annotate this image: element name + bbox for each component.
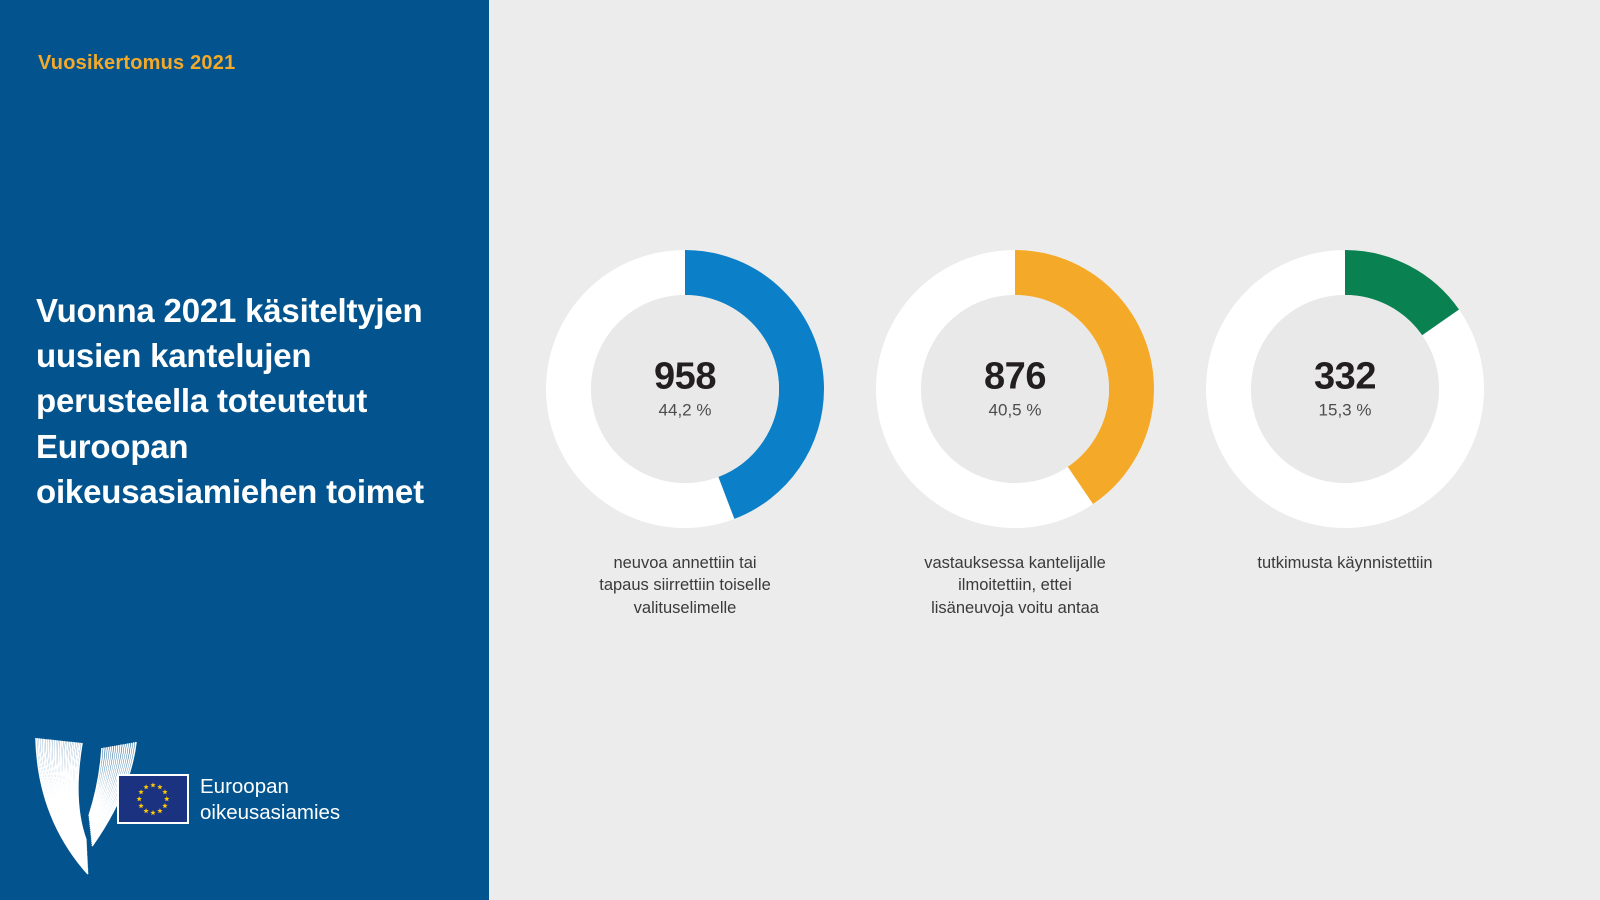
- page-title: Vuonna 2021 käsiteltyjen uusien kanteluj…: [36, 288, 456, 514]
- donut-chart: 958 44,2 %: [546, 250, 824, 528]
- donut-chart: 332 15,3 %: [1206, 250, 1484, 528]
- donut-caption: tutkimusta käynnistettiin: [1175, 552, 1515, 574]
- logo-block: Euroopan oikeusasiamies: [32, 726, 362, 866]
- donut-card: 876 40,5 % vastauksessa kantelijalle ilm…: [845, 250, 1185, 619]
- organisation-name: Euroopan oikeusasiamies: [200, 774, 340, 826]
- donut-chart: 876 40,5 %: [876, 250, 1154, 528]
- eu-flag-icon: [117, 774, 189, 824]
- sidebar-panel: Vuosikertomus 2021 Vuonna 2021 käsitelty…: [0, 0, 489, 900]
- donut-caption: vastauksessa kantelijalle ilmoitettiin, …: [845, 552, 1185, 619]
- donut-card: 332 15,3 % tutkimusta käynnistettiin: [1175, 250, 1515, 574]
- donut-card: 958 44,2 % neuvoa annettiin tai tapaus s…: [515, 250, 855, 619]
- donut-chart-group: 958 44,2 % neuvoa annettiin tai tapaus s…: [489, 0, 1600, 900]
- report-kicker: Vuosikertomus 2021: [38, 52, 235, 75]
- donut-caption: neuvoa annettiin tai tapaus siirrettiin …: [515, 552, 855, 619]
